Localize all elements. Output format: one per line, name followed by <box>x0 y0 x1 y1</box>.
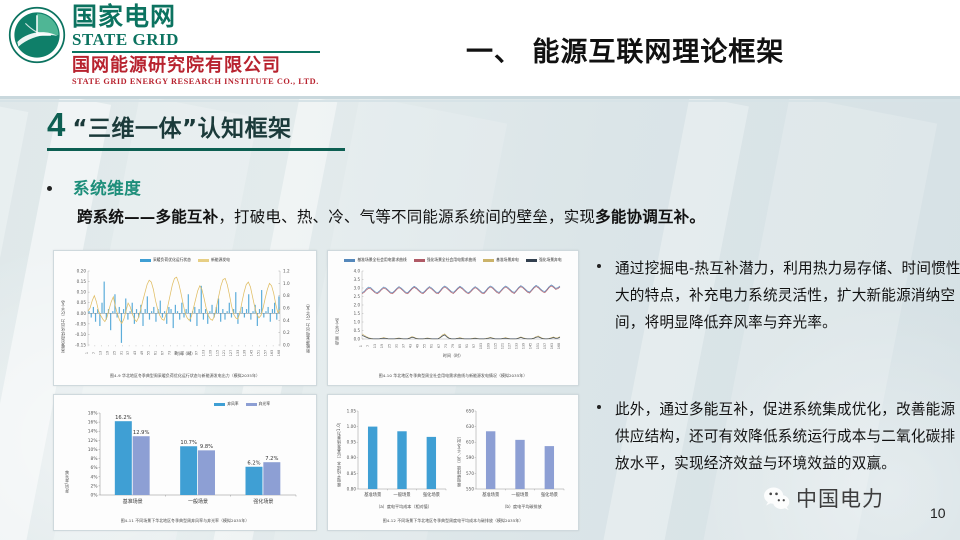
svg-text:25: 25 <box>112 351 116 355</box>
svg-text:4%: 4% <box>91 474 98 480</box>
svg-text:168: 168 <box>277 350 281 356</box>
svg-text:109: 109 <box>486 343 490 349</box>
svg-text:91: 91 <box>188 351 192 355</box>
bullet-dot-icon <box>597 405 601 409</box>
slide-canvas: 国家电网 STATE GRID 国网能源研究院有限公司 STATE GRID E… <box>0 0 960 540</box>
svg-text:43: 43 <box>133 351 137 355</box>
svg-text:8%: 8% <box>91 456 98 462</box>
bullet-dot-icon <box>597 264 601 268</box>
svg-text:0.90: 0.90 <box>347 455 357 460</box>
chart-fig-4-10: 基准场景全社会用电需求曲线强化场景全社会用电需求曲线基准场景弃电强化场景弃电 电… <box>332 255 574 381</box>
chart-card-fig-4-11: 弃风率弃光率 弃风/弃光率 18%16%14%12%10%8%6%4%2%0%1… <box>53 394 317 531</box>
chart-card-fig-4-12: 度电平均成本（以基准场景为1.0） 度电碳排放（克／千瓦·时） （a）度电平均成… <box>327 394 579 531</box>
brand-lockup: 国家电网 STATE GRID 国网能源研究院有限公司 STATE GRID E… <box>8 4 320 87</box>
svg-text:157: 157 <box>543 343 547 349</box>
svg-text:一般场景: 一般场景 <box>188 498 208 505</box>
bullet-system-dimension: 系统维度 <box>47 175 141 199</box>
svg-text:基准场景: 基准场景 <box>482 491 500 498</box>
svg-text:13: 13 <box>373 344 377 348</box>
svg-text:0.5: 0.5 <box>354 328 361 333</box>
institute-name-cn: 国网能源研究院有限公司 <box>72 56 320 76</box>
svg-text:163: 163 <box>270 350 274 356</box>
svg-text:61: 61 <box>430 344 434 348</box>
svg-text:基准场景: 基准场景 <box>364 491 382 498</box>
section-title: “三维一体”认知框架 <box>72 109 291 143</box>
svg-text:12.9%: 12.9% <box>133 430 150 436</box>
svg-text:31: 31 <box>394 344 398 348</box>
svg-text:55: 55 <box>147 351 151 355</box>
bullet-right-1: 通过挖掘电-热互补潜力，利用热力易存储、时间惯性大的特点，补充电力系统灵活性，扩… <box>597 255 960 336</box>
svg-text:145: 145 <box>250 350 254 356</box>
svg-text:139: 139 <box>243 350 247 356</box>
svg-text:31: 31 <box>119 351 123 355</box>
svg-text:37: 37 <box>401 344 405 348</box>
svg-text:127: 127 <box>229 350 233 356</box>
svg-text:630: 630 <box>466 424 474 429</box>
svg-text:7: 7 <box>92 352 96 354</box>
section-number: 4 <box>47 108 65 141</box>
svg-text:0.2: 0.2 <box>283 330 290 335</box>
svg-text:0.8: 0.8 <box>283 293 290 298</box>
svg-text:0%: 0% <box>91 493 98 499</box>
svg-text:强化场景: 强化场景 <box>253 498 273 505</box>
sentence-middle: ，打破电、热、冷、气等不同能源系统间的壁垒，实现 <box>218 208 595 226</box>
svg-text:610: 610 <box>466 440 474 445</box>
slide-header: 国家电网 STATE GRID 国网能源研究院有限公司 STATE GRID E… <box>0 0 960 96</box>
chart-fig-4-11: 弃风率弃光率 弃风/弃光率 18%16%14%12%10%8%6%4%2%0%1… <box>58 399 312 526</box>
svg-text:570: 570 <box>466 471 474 476</box>
chart-caption: 图4-12 不同场景下华北地区冬季典型周度电平均成本与碳排放（模拟2035年） <box>332 518 574 524</box>
svg-text:7.2%: 7.2% <box>265 456 278 462</box>
svg-text:2%: 2% <box>91 483 98 489</box>
svg-text:0.05: 0.05 <box>77 300 87 305</box>
svg-text:650: 650 <box>466 408 474 413</box>
svg-text:67: 67 <box>437 344 441 348</box>
svg-text:一般场景: 一般场景 <box>393 491 411 498</box>
svg-text:0.95: 0.95 <box>347 440 357 445</box>
svg-text:61: 61 <box>154 351 158 355</box>
svg-text:0.00: 0.00 <box>77 311 87 316</box>
svg-text:1.5: 1.5 <box>354 311 361 316</box>
wechat-icon <box>762 484 791 513</box>
header-divider-shadow <box>0 100 960 102</box>
svg-text:151: 151 <box>256 350 260 356</box>
svg-text:1.00: 1.00 <box>347 424 357 429</box>
svg-text:19: 19 <box>106 351 110 355</box>
bullet-system-dimension-label: 系统维度 <box>73 175 141 199</box>
chart-card-fig-4-9: 采暖负荷优化运行状态新能源发电 采暖负荷优化出力（亿千瓦） 新能源发电出力（亿千… <box>53 250 317 386</box>
svg-text:-0.10: -0.10 <box>75 332 86 337</box>
svg-text:16.2%: 16.2% <box>115 415 132 421</box>
section-heading: 4 “三维一体”认知框架 <box>47 108 345 151</box>
svg-text:121: 121 <box>222 350 226 356</box>
svg-text:0.20: 0.20 <box>77 269 87 274</box>
svg-text:18%: 18% <box>88 411 98 417</box>
brand-name-en: STATE GRID <box>72 30 320 49</box>
svg-text:14%: 14% <box>88 429 98 435</box>
chart-caption: 图4-11 不同场景下华北地区冬季典型周弃风率与弃光率（模拟2035年） <box>58 518 312 524</box>
svg-text:127: 127 <box>508 343 512 349</box>
svg-text:16%: 16% <box>88 420 98 426</box>
svg-text:12%: 12% <box>88 438 98 444</box>
chart-caption: 图4-10 华北地区冬季典型周全社会用电需求曲线与新能源发电情况（模拟2035年… <box>332 373 574 379</box>
svg-text:55: 55 <box>423 344 427 348</box>
svg-text:强化场景: 强化场景 <box>423 491 441 498</box>
svg-text:151: 151 <box>536 343 540 349</box>
chart-card-fig-4-10: 基准场景全社会用电需求曲线强化场景全社会用电需求曲线基准场景弃电强化场景弃电 电… <box>327 250 579 386</box>
svg-text:97: 97 <box>472 344 476 348</box>
svg-text:基准场景: 基准场景 <box>123 498 143 505</box>
svg-text:一般场景: 一般场景 <box>511 491 529 498</box>
svg-text:1: 1 <box>85 352 89 354</box>
svg-text:0.4: 0.4 <box>283 318 290 323</box>
institute-name-en: STATE GRID ENERGY RESEARCH INSTITUTE CO.… <box>72 76 320 87</box>
svg-text:1.05: 1.05 <box>347 408 357 413</box>
svg-text:0.0: 0.0 <box>283 343 290 348</box>
svg-text:0.15: 0.15 <box>77 279 87 284</box>
svg-text:103: 103 <box>202 350 206 356</box>
svg-text:6%: 6% <box>91 465 98 471</box>
chart-plot-area: 0.200.150.100.050.00-0.05-0.10-0.151.21.… <box>58 255 314 383</box>
svg-text:-0.15: -0.15 <box>75 343 86 348</box>
bullet-dot-icon <box>47 186 52 191</box>
svg-text:0.6: 0.6 <box>283 306 290 311</box>
svg-text:79: 79 <box>174 351 178 355</box>
svg-text:43: 43 <box>409 344 413 348</box>
svg-text:10%: 10% <box>88 447 98 453</box>
svg-text:91: 91 <box>465 344 469 348</box>
svg-text:1.0: 1.0 <box>283 281 290 286</box>
chart-plot-area: 18%16%14%12%10%8%6%4%2%0%16.2%12.9%基准场景1… <box>58 399 314 528</box>
svg-text:133: 133 <box>515 343 519 349</box>
svg-text:103: 103 <box>479 343 483 349</box>
svg-text:85: 85 <box>181 351 185 355</box>
svg-text:115: 115 <box>215 350 219 356</box>
svg-text:139: 139 <box>522 343 526 349</box>
svg-text:0.10: 0.10 <box>77 290 87 295</box>
svg-text:强化场景: 强化场景 <box>541 491 559 498</box>
svg-text:85: 85 <box>458 344 462 348</box>
svg-text:10.7%: 10.7% <box>180 440 197 446</box>
svg-text:115: 115 <box>493 343 497 349</box>
svg-text:25: 25 <box>387 344 391 348</box>
svg-text:145: 145 <box>529 343 533 349</box>
svg-text:550: 550 <box>466 486 474 491</box>
state-grid-logo-icon <box>8 6 66 64</box>
chart-fig-4-9: 采暖负荷优化运行状态新能源发电 采暖负荷优化出力（亿千瓦） 新能源发电出力（亿千… <box>58 255 312 381</box>
svg-text:157: 157 <box>263 350 267 356</box>
svg-text:168: 168 <box>557 343 561 349</box>
page-title: 一、 能源互联网理论框架 <box>466 30 784 69</box>
svg-text:9.8%: 9.8% <box>200 444 213 450</box>
chart-plot-area: 1.051.000.950.900.850.80基准场景一般场景强化场景6506… <box>332 399 576 528</box>
svg-text:-0.05: -0.05 <box>75 321 86 326</box>
svg-text:73: 73 <box>167 351 171 355</box>
svg-text:67: 67 <box>160 351 164 355</box>
svg-text:1.0: 1.0 <box>354 319 361 324</box>
svg-text:3.0: 3.0 <box>354 285 361 290</box>
section-underline <box>47 148 345 151</box>
chart-plot-area: 4.03.53.02.52.01.51.00.50.01713192531374… <box>332 255 576 383</box>
bullet-right-1-text: 通过挖掘电-热互补潜力，利用热力易存储、时间惯性大的特点，补充电力系统灵活性，扩… <box>615 255 960 336</box>
header-divider <box>0 96 960 99</box>
svg-text:163: 163 <box>550 343 554 349</box>
svg-text:97: 97 <box>195 351 199 355</box>
svg-text:49: 49 <box>416 344 420 348</box>
svg-text:3.5: 3.5 <box>354 277 361 282</box>
svg-text:0.0: 0.0 <box>354 336 361 341</box>
svg-text:73: 73 <box>444 344 448 348</box>
svg-text:2.0: 2.0 <box>354 302 361 307</box>
chart-fig-4-12: 度电平均成本（以基准场景为1.0） 度电碳排放（克／千瓦·时） （a）度电平均成… <box>332 399 574 526</box>
system-dimension-sentence: 跨系统——多能互补，打破电、热、冷、气等不同能源系统间的壁垒，实现多能协调互补。 <box>77 205 705 227</box>
svg-text:13: 13 <box>99 351 103 355</box>
svg-text:1: 1 <box>359 345 363 347</box>
brand-name-cn: 国家电网 <box>72 4 320 30</box>
watermark: 中国电力 <box>762 483 884 513</box>
svg-text:1.2: 1.2 <box>283 269 290 274</box>
svg-text:0.85: 0.85 <box>347 471 357 476</box>
brand-divider <box>72 51 320 53</box>
svg-text:133: 133 <box>236 350 240 356</box>
page-number: 10 <box>930 505 946 521</box>
sentence-bold-tail: 多能协调互补。 <box>595 208 705 226</box>
svg-text:79: 79 <box>451 344 455 348</box>
svg-text:7: 7 <box>366 345 370 347</box>
svg-text:6.2%: 6.2% <box>247 461 260 467</box>
svg-text:0.80: 0.80 <box>347 486 357 491</box>
chart-caption: 图4-9 华北地区冬季典型周采暖负荷优化运行状态与新能源发电出力（模拟2035年… <box>58 373 312 379</box>
svg-text:19: 19 <box>380 344 384 348</box>
svg-text:37: 37 <box>126 351 130 355</box>
svg-text:4.0: 4.0 <box>354 268 361 273</box>
svg-text:109: 109 <box>208 350 212 356</box>
svg-text:121: 121 <box>500 343 504 349</box>
svg-text:590: 590 <box>466 455 474 460</box>
bullet-right-2-text: 此外，通过多能互补，促进系统集成优化，改善能源供应结构，还可有效降低系统运行成本… <box>615 396 960 477</box>
svg-text:49: 49 <box>140 351 144 355</box>
svg-text:2.5: 2.5 <box>354 294 361 299</box>
sentence-bold-lead: 跨系统——多能互补 <box>77 208 218 226</box>
bullet-right-2: 此外，通过多能互补，促进系统集成优化，改善能源供应结构，还可有效降低系统运行成本… <box>597 396 960 477</box>
watermark-text: 中国电力 <box>796 483 884 513</box>
